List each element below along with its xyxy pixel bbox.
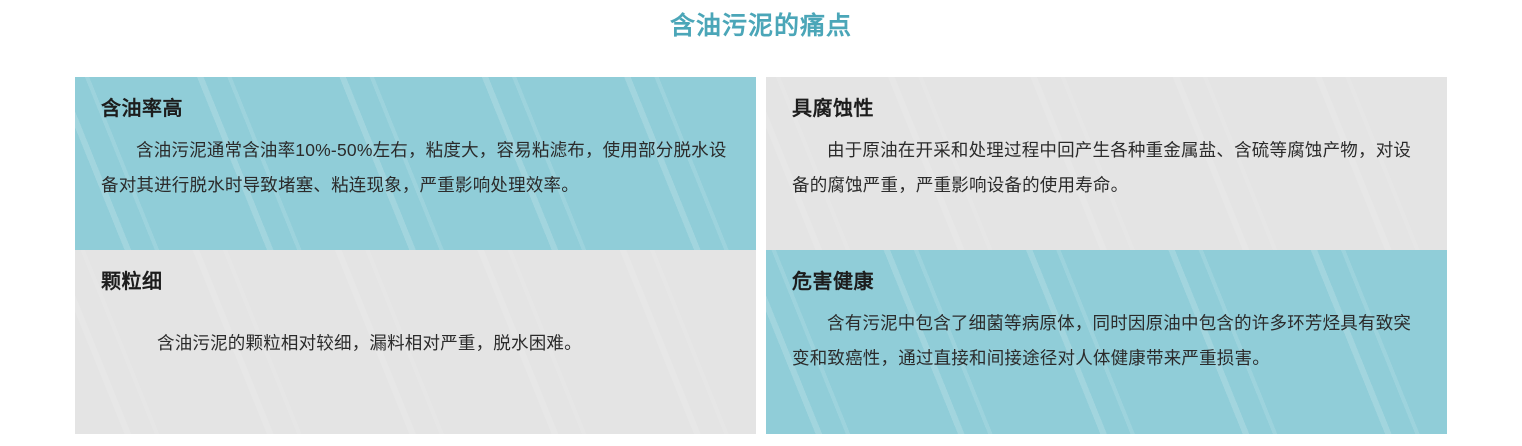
pain-points-grid: 含油率高 含油污泥通常含油率10%-50%左右，粘度大，容易粘滤布，使用部分脱水… [75,77,1447,434]
pain-point-card-oil-content-high: 含油率高 含油污泥通常含油率10%-50%左右，粘度大，容易粘滤布，使用部分脱水… [75,77,756,250]
page-title: 含油污泥的痛点 [0,10,1522,42]
pain-point-card-health-hazard: 危害健康 含有污泥中包含了细菌等病原体，同时因原油中包含的许多环芳烃具有致突变和… [766,250,1447,434]
card-heading-health-hazard: 危害健康 [792,268,1421,296]
pain-point-card-corrosive: 具腐蚀性 由于原油在开采和处理过程中回产生各种重金属盐、含硫等腐蚀产物，对设备的… [766,77,1447,250]
card-body-oil-content-high: 含油污泥通常含油率10%-50%左右，粘度大，容易粘滤布，使用部分脱水设备对其进… [101,133,730,203]
card-body-health-hazard: 含有污泥中包含了细菌等病原体，同时因原油中包含的许多环芳烃具有致突变和致癌性，通… [792,306,1421,376]
pain-point-card-fine-particles: 颗粒细 含油污泥的颗粒相对较细，漏料相对严重，脱水困难。 [75,250,756,434]
card-body-corrosive: 由于原油在开采和处理过程中回产生各种重金属盐、含硫等腐蚀产物，对设备的腐蚀严重，… [792,133,1421,203]
card-heading-corrosive: 具腐蚀性 [792,95,1421,123]
card-heading-fine-particles: 颗粒细 [101,268,730,296]
card-heading-oil-content-high: 含油率高 [101,95,730,123]
card-body-fine-particles: 含油污泥的颗粒相对较细，漏料相对严重，脱水困难。 [101,326,730,361]
